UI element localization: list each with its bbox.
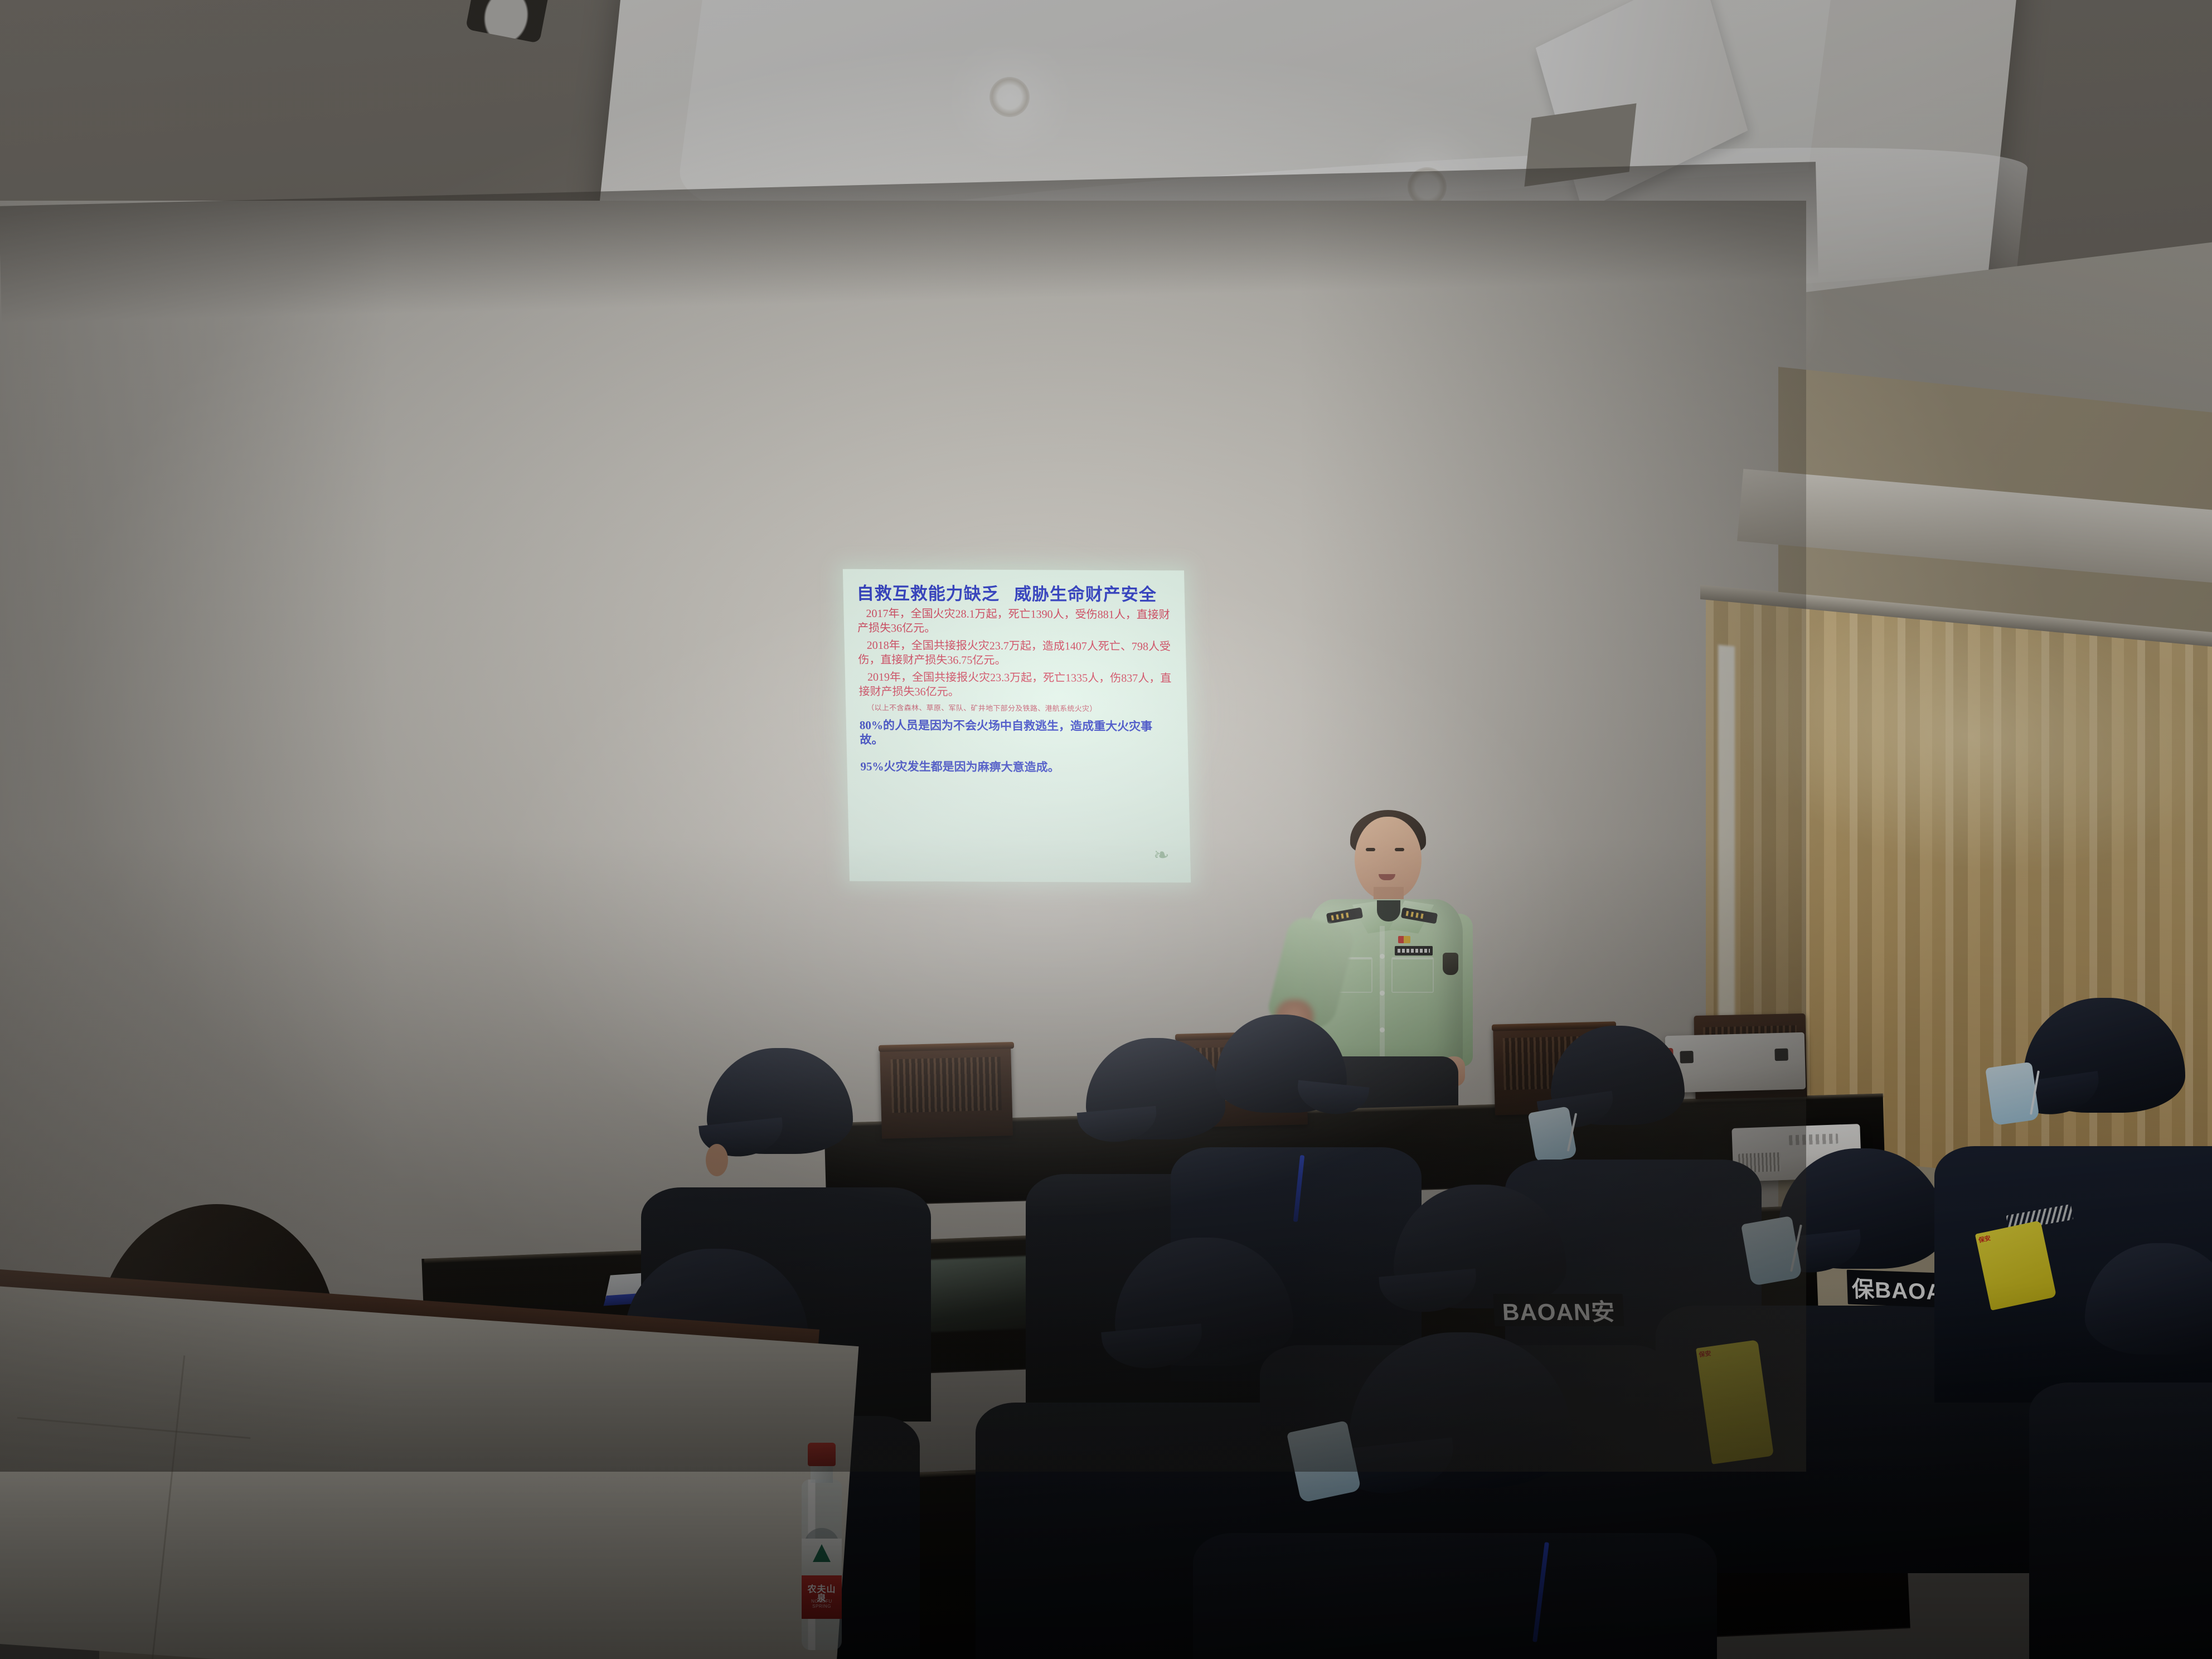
jacket-back-text-partial: BAOAN安 [1493,1294,1624,1326]
presenter-name-tag [1395,946,1433,955]
guard-front-center [1260,1332,1650,1659]
bottle-brand-en: NONGFU SPRING [804,1599,840,1609]
presenter-flag-badge-icon [1398,936,1410,943]
guard-right-edge [2063,1243,2212,1659]
mask-icon [1741,1216,1802,1286]
mask-icon [1985,1062,2040,1126]
armband-text: 保安 [1699,1351,1711,1359]
bottle-neck [811,1464,833,1483]
presenter-button-3 [1380,1027,1385,1032]
floor [0,1286,858,1659]
bottle-logo-icon [813,1544,831,1562]
slide-stat-2019: 2019年，全国共接报火灾23.3万起，死亡1335人，伤837人，直接财产损失… [858,670,1175,700]
slide-highlight-95: 95%火灾发生都是因为麻痹大意造成。 [860,759,1176,775]
projected-slide: 自救互救能力缺乏威胁生命财产安全 2017年，全国火灾28.1万起，死亡1390… [843,569,1191,883]
slide-footnote: （以上不含森林、草原、军队、矿井地下部分及铁路、港航系统火灾） [867,701,1175,713]
cap-brim-icon [1379,1269,1478,1316]
cap-icon [2085,1243,2212,1355]
torso [1193,1533,1717,1659]
presenter-arm-patch-icon [1443,953,1458,975]
projector-case-latch-right[interactable] [1774,1049,1788,1061]
slide-title-right: 威胁生命财产安全 [1013,584,1157,604]
chair-1[interactable] [880,1044,1013,1139]
presenter-eye-right [1395,848,1404,851]
armband-text: 保安 [1978,1235,1991,1244]
slide-stat-2018: 2018年，全国共接报火灾23.7万起，造成1407人死亡、798人受伤，直接财… [857,638,1173,668]
projector-brand-label [1789,1133,1839,1145]
bottle-cap[interactable] [808,1443,836,1466]
presenter-button-1 [1380,954,1385,959]
bottle-label-lower: 农夫山泉 NONGFU SPRING [802,1575,842,1619]
water-bottle[interactable]: 农夫山泉 NONGFU SPRING [798,1443,845,1650]
downlight-icon-1 [989,77,1030,117]
slide-title: 自救互救能力缺乏威胁生命财产安全 [856,584,1172,605]
presenter-eye-left [1366,848,1375,851]
slide-stat-2017: 2017年，全国火灾28.1万起，死亡1390人，受伤881人，直接财产损失36… [857,606,1173,636]
slide-title-left: 自救互救能力缺乏 [856,584,1000,604]
presenter-pocket-right [1391,957,1434,993]
ear [706,1144,728,1176]
slide-ornament-icon: ❧ [1153,846,1181,874]
slide-body: 2017年，全国火灾28.1万起，死亡1390人，受伤881人，直接财产损失36… [857,606,1175,700]
torso [2029,1382,2212,1659]
presenter-button-2 [1380,991,1385,996]
presenter-undershirt [1377,900,1400,921]
slide-highlight-80: 80%的人员是因为不会火场中自救逃生，造成重大火灾事故。 [860,717,1176,748]
lecture-room-photo: 自救互救能力缺乏威胁生命财产安全 2017年，全国火灾28.1万起，死亡1390… [0,0,2212,1659]
